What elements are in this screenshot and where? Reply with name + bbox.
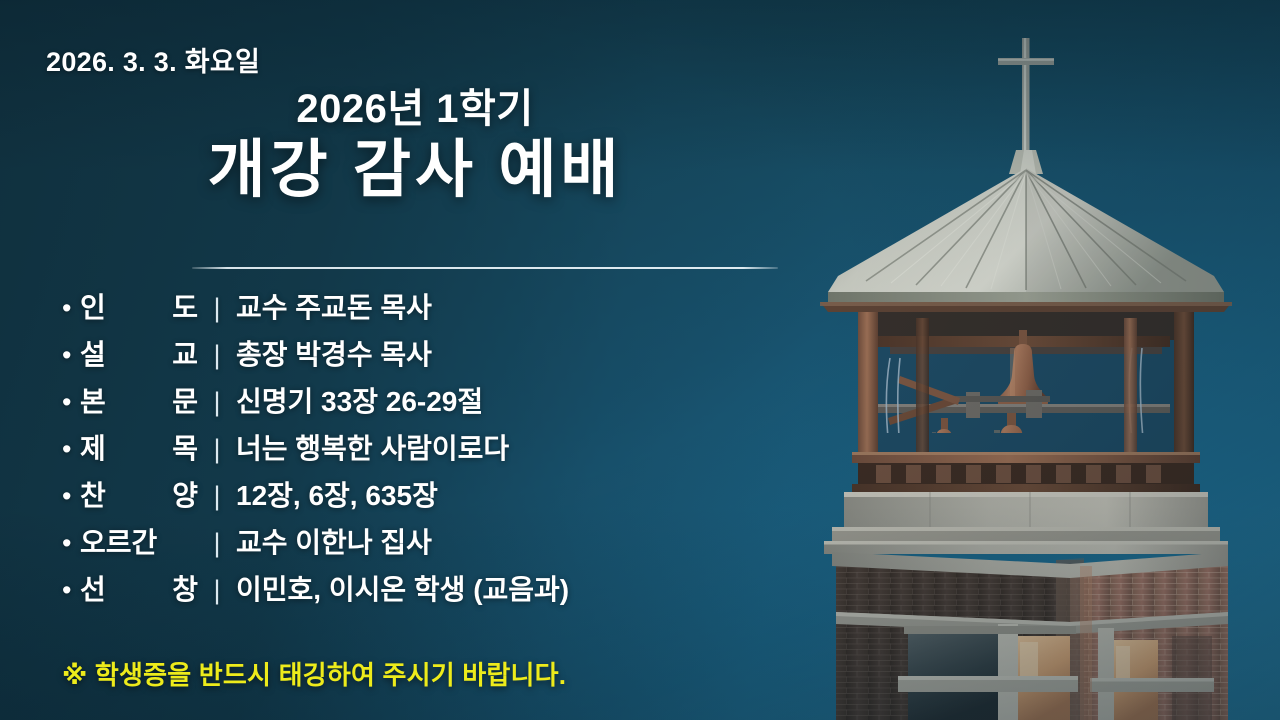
bullet-icon: • bbox=[62, 483, 80, 510]
info-row-organ: • 오르간 | 교수 이한나 집사 bbox=[62, 521, 782, 568]
title-subtitle: 2026년 1학기 bbox=[0, 88, 830, 131]
info-label: 오르간 bbox=[80, 521, 198, 561]
info-separator: | bbox=[198, 340, 236, 371]
bullet-icon: • bbox=[62, 530, 80, 557]
info-separator: | bbox=[198, 575, 236, 606]
bullet-icon: • bbox=[62, 389, 80, 416]
info-value: 12장, 6장, 635장 bbox=[236, 474, 438, 514]
title-block: 2026년 1학기 개강 감사 예배 bbox=[0, 88, 830, 206]
bullet-icon: • bbox=[62, 295, 80, 322]
info-label-part-a: 인 bbox=[80, 286, 106, 326]
info-label-part-b: 교 bbox=[172, 333, 198, 373]
info-label-part-b: 도 bbox=[172, 286, 198, 326]
info-value: 이민호, 이시온 학생 (교음과) bbox=[236, 568, 569, 608]
info-label: 제 목 bbox=[80, 427, 198, 467]
info-value: 교수 이한나 집사 bbox=[236, 521, 432, 561]
info-row-title: • 제 목 | 너는 행복한 사람이로다 bbox=[62, 427, 782, 474]
info-label: 본 문 bbox=[80, 380, 198, 420]
notice-text: ※ 학생증을 반드시 태깅하여 주시기 바랍니다. bbox=[62, 655, 566, 692]
bullet-icon: • bbox=[62, 577, 80, 604]
info-value: 교수 주교돈 목사 bbox=[236, 286, 432, 326]
title-main: 개강 감사 예배 bbox=[0, 135, 830, 206]
info-row-praise: • 찬 양 | 12장, 6장, 635장 bbox=[62, 474, 782, 521]
info-separator: | bbox=[198, 387, 236, 418]
info-label-part-b: 문 bbox=[172, 380, 198, 420]
info-label-part-a: 제 bbox=[80, 427, 106, 467]
slide-canvas: 2026. 3. 3. 화요일 2026년 1학기 개강 감사 예배 • 인 도… bbox=[0, 0, 1280, 720]
title-divider bbox=[192, 267, 778, 269]
date-label: 2026. 3. 3. 화요일 bbox=[46, 40, 260, 79]
info-separator: | bbox=[198, 528, 236, 559]
info-separator: | bbox=[198, 434, 236, 465]
info-label-part-b: 창 bbox=[172, 568, 198, 608]
bullet-icon: • bbox=[62, 342, 80, 369]
service-info-list: • 인 도 | 교수 주교돈 목사 • 설 교 | 총장 박경수 목사 • bbox=[62, 286, 782, 615]
info-separator: | bbox=[198, 481, 236, 512]
info-value: 총장 박경수 목사 bbox=[236, 333, 432, 373]
info-label-part-a: 본 bbox=[80, 380, 106, 420]
info-label-part-b: 목 bbox=[172, 427, 198, 467]
info-label: 찬 양 bbox=[80, 474, 198, 514]
info-row-inviter: • 인 도 | 교수 주교돈 목사 bbox=[62, 286, 782, 333]
info-label: 선 창 bbox=[80, 568, 198, 608]
info-row-precentor: • 선 창 | 이민호, 이시온 학생 (교음과) bbox=[62, 568, 782, 615]
info-label-part-a: 설 bbox=[80, 333, 106, 373]
info-label-part-b: 양 bbox=[172, 474, 198, 514]
bullet-icon: • bbox=[62, 436, 80, 463]
info-row-sermon: • 설 교 | 총장 박경수 목사 bbox=[62, 333, 782, 380]
info-label-part-a: 찬 bbox=[80, 474, 106, 514]
info-value: 너는 행복한 사람이로다 bbox=[236, 427, 509, 467]
info-label-part-a: 선 bbox=[80, 568, 106, 608]
info-separator: | bbox=[198, 293, 236, 324]
slide-content: 2026. 3. 3. 화요일 2026년 1학기 개강 감사 예배 • 인 도… bbox=[0, 0, 1280, 720]
info-label: 인 도 bbox=[80, 286, 198, 326]
info-row-scripture: • 본 문 | 신명기 33장 26-29절 bbox=[62, 380, 782, 427]
info-label: 설 교 bbox=[80, 333, 198, 373]
info-value: 신명기 33장 26-29절 bbox=[236, 380, 483, 420]
